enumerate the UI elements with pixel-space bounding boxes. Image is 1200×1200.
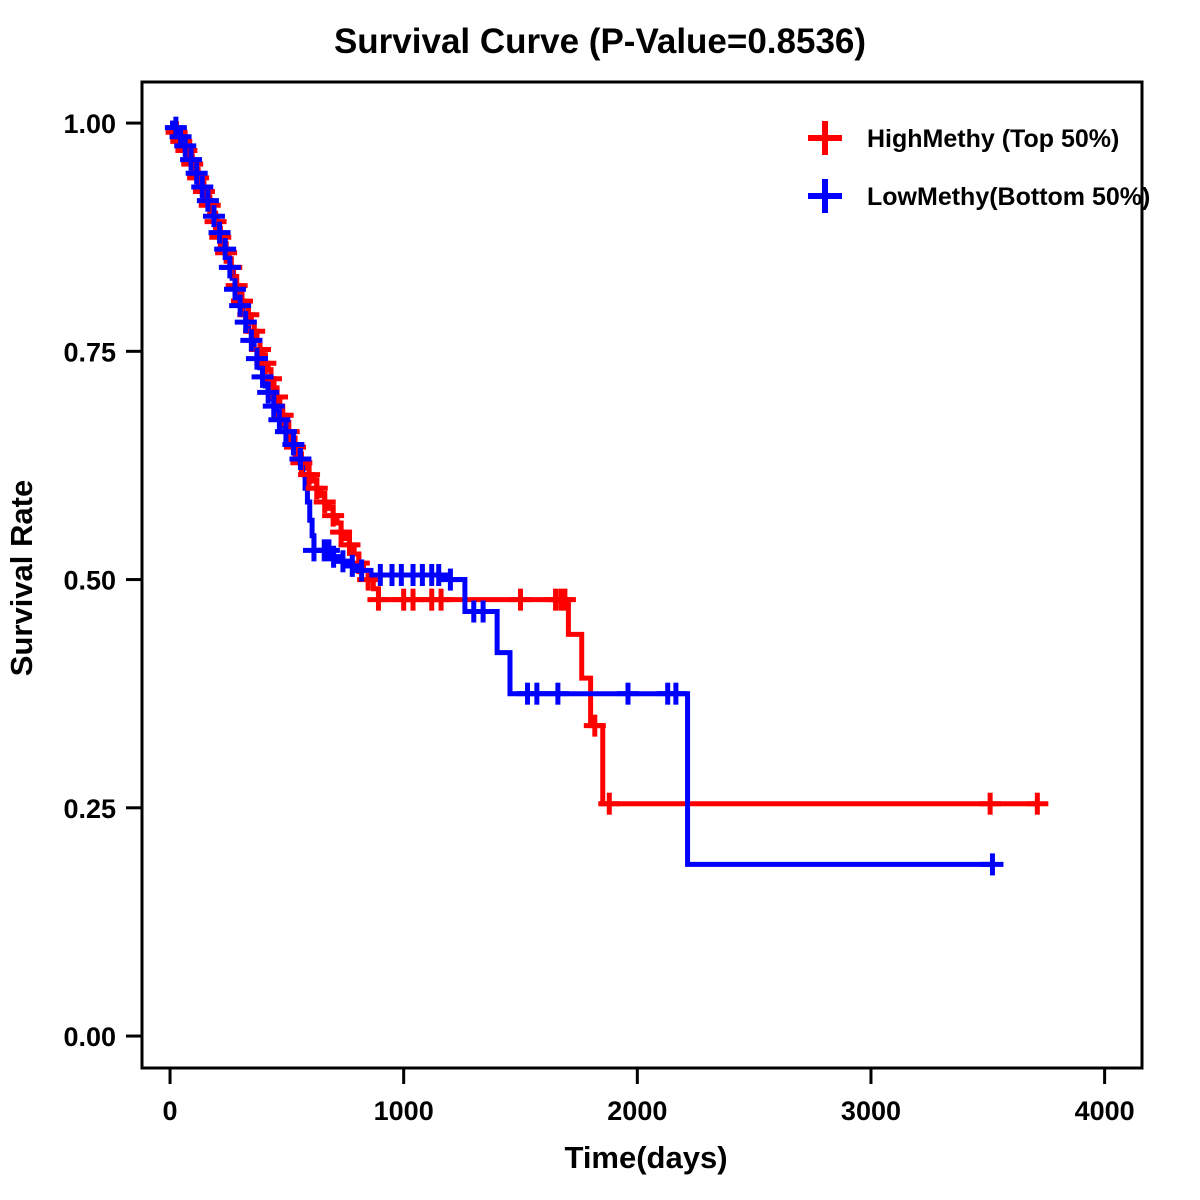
figure-background	[0, 0, 1200, 1200]
survival-curve-figure: Survival Curve (P-Value=0.8536) 0.000.25…	[0, 0, 1200, 1200]
x-axis-title: Time(days)	[564, 1140, 727, 1175]
x-tick-label: 3000	[841, 1096, 901, 1126]
x-tick-label: 1000	[374, 1096, 434, 1126]
y-tick-label: 0.50	[63, 566, 116, 596]
y-tick-label: 0.25	[63, 794, 116, 824]
survival-plot-svg: Survival Curve (P-Value=0.8536) 0.000.25…	[0, 0, 1200, 1200]
legend-label: LowMethy(Bottom 50%)	[867, 183, 1150, 211]
y-tick-label: 0.75	[63, 337, 116, 367]
chart-title: Survival Curve (P-Value=0.8536)	[334, 22, 866, 61]
legend-label: HighMethy (Top 50%)	[867, 125, 1119, 153]
x-tick-label: 0	[163, 1096, 178, 1126]
y-tick-label: 1.00	[63, 109, 116, 139]
x-tick-label: 2000	[607, 1096, 667, 1126]
y-axis-title: Survival Rate	[4, 480, 39, 676]
y-tick-label: 0.00	[63, 1022, 116, 1052]
x-tick-label: 4000	[1075, 1096, 1135, 1126]
